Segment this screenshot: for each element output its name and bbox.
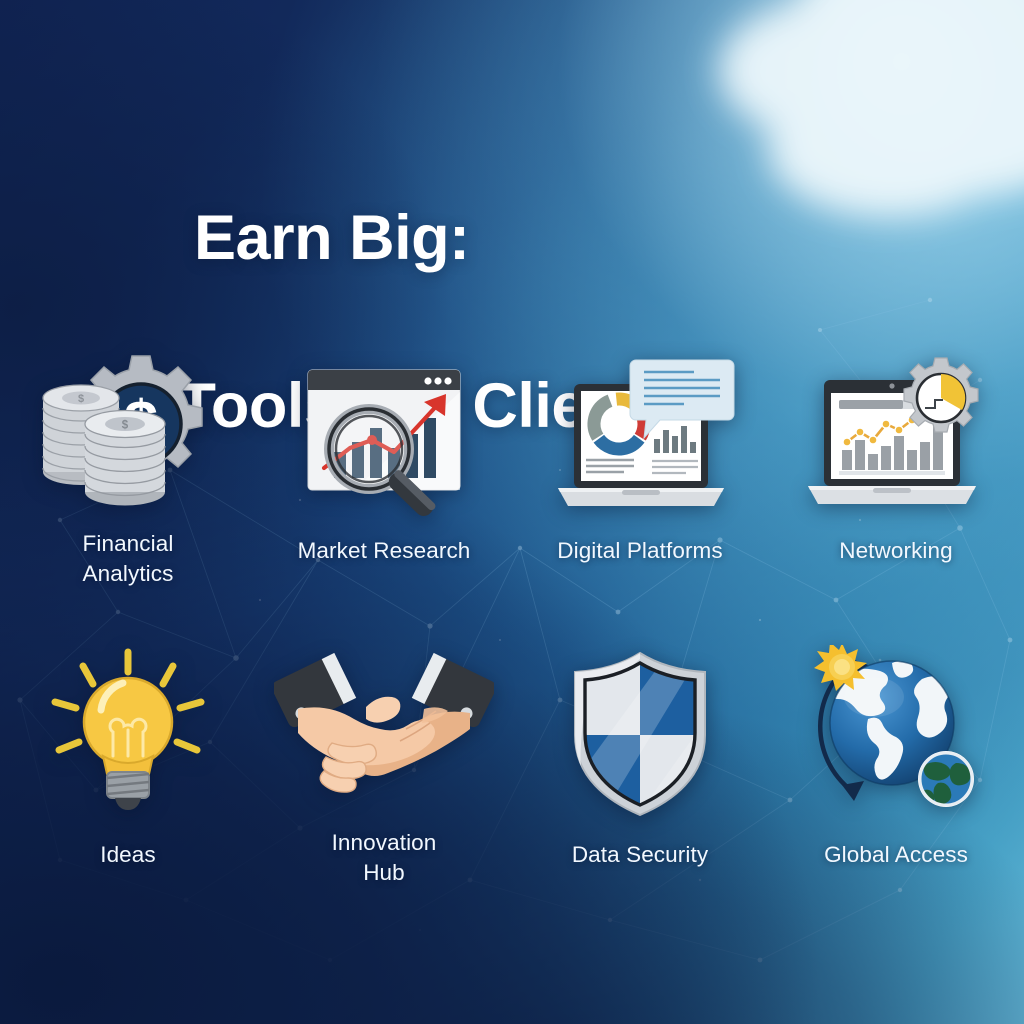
tool-label: Market Research <box>298 536 471 566</box>
tool-item-market-research[interactable]: Market Research <box>256 352 512 588</box>
svg-text:$: $ <box>78 393 84 405</box>
tool-label: Digital Platforms <box>557 536 723 566</box>
tool-label-line-1: Innovation <box>332 830 437 855</box>
globe-sun-orbit-icon <box>806 638 986 828</box>
laptop-dashboard-chat-icon <box>540 352 740 524</box>
tool-item-global-access[interactable]: Global Access <box>768 638 1024 888</box>
title-line-1: Earn Big: <box>194 203 470 273</box>
lightbulb-icon <box>43 638 213 828</box>
tool-label: Financial Analytics <box>36 529 221 589</box>
tool-item-digital-platforms[interactable]: Digital Platforms <box>512 352 768 588</box>
tool-label-line-2: Hub <box>363 860 405 885</box>
poster-canvas: Earn Big: 7 Tools For Clients $ <box>0 0 1024 1024</box>
tool-item-ideas[interactable]: Ideas <box>0 638 256 888</box>
tool-item-data-security[interactable]: Data Security <box>512 638 768 888</box>
tools-grid: $ <box>0 352 1024 888</box>
svg-text:$: $ <box>122 420 129 432</box>
shield-icon <box>565 638 715 828</box>
browser-chart-magnifier-icon <box>294 352 474 524</box>
tool-label: Data Security <box>572 840 708 870</box>
tools-row-2: Ideas <box>0 638 1024 888</box>
tool-item-financial-analytics[interactable]: $ <box>0 352 256 588</box>
cloud-decoration <box>634 0 1024 290</box>
tool-label: Networking <box>839 536 953 566</box>
tools-row-1: $ <box>0 352 1024 588</box>
coins-gear-dollar-icon: $ <box>33 352 223 517</box>
handshake-icon <box>274 638 494 816</box>
tool-label: Global Access <box>824 840 968 870</box>
tool-item-networking[interactable]: Networking <box>768 352 1024 588</box>
tool-label: InnovationHub <box>332 828 437 888</box>
tool-label: Ideas <box>100 840 156 870</box>
laptop-linechart-gear-icon <box>798 352 994 524</box>
tool-item-innovation-hub[interactable]: InnovationHub <box>256 638 512 888</box>
